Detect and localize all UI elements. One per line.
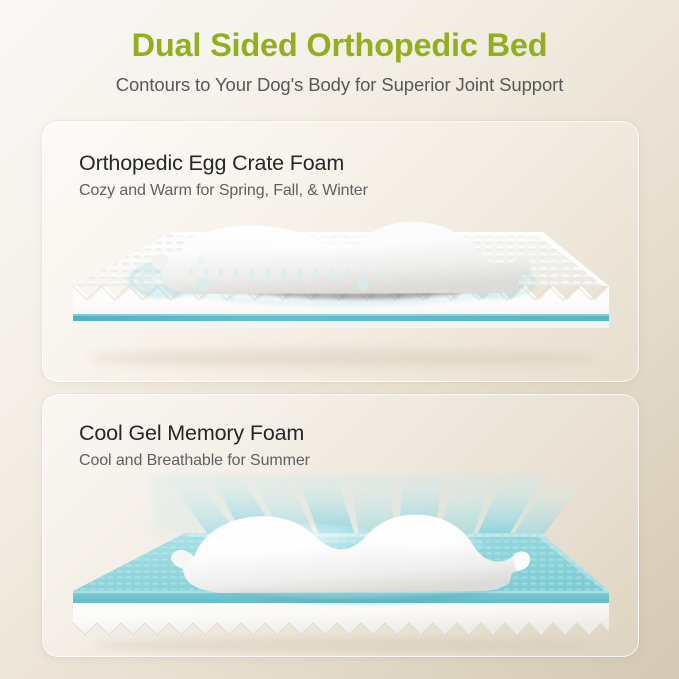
dog-body-highlight-back [203, 523, 383, 555]
bed-shadow [88, 349, 598, 367]
illustration-egg-crate-foam [43, 210, 638, 381]
card-subheading-cool-gel: Cool and Breathable for Summer [79, 452, 310, 470]
card-heading-cool-gel: Cool Gel Memory Foam [79, 421, 304, 446]
page-subtitle: Contours to Your Dog's Body for Superior… [0, 74, 679, 96]
teal-stripe-highlight [73, 314, 609, 316]
header: Dual Sided Orthopedic Bed Contours to Yo… [0, 26, 679, 96]
page-title: Dual Sided Orthopedic Bed [0, 26, 679, 65]
card-subheading-orthopedic: Cozy and Warm for Spring, Fall, & Winter [79, 182, 368, 200]
egg-crate-foam-svg [43, 210, 638, 381]
bed-shadow [93, 637, 593, 653]
dog-body-highlight [188, 229, 448, 259]
infographic-page: Dual Sided Orthopedic Bed Contours to Yo… [0, 0, 679, 679]
cooling-rays [153, 473, 591, 535]
illustration-gel-memory-foam [43, 473, 638, 656]
gel-memory-foam-svg [43, 473, 638, 656]
foam-bottom-band [73, 321, 609, 328]
card-heading-orthopedic: Orthopedic Egg Crate Foam [79, 151, 344, 176]
dog-body-highlight-hip [381, 532, 485, 558]
card-cool-gel-memory-foam: Cool Gel Memory Foam Cool and Breathable… [42, 394, 639, 657]
card-orthopedic-egg-crate-foam: Orthopedic Egg Crate Foam Cozy and Warm … [42, 121, 639, 382]
